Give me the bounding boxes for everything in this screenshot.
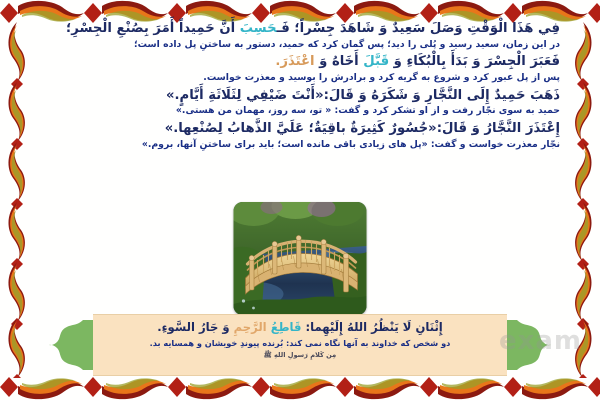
- persian-line-4: نجّار معذرت خواست و گفت: «پل های زیادی ب…: [40, 139, 560, 152]
- arabic-highlight-cyan: حَسِبَ: [240, 21, 277, 36]
- verse-group-4: إِعْتَذَرَ النَّجَّارُ وَ قَالَ:«جُسُورٌ…: [40, 120, 560, 151]
- hadith-band: إِثْنَانِ لَا يَنْظُرُ اللهُ إِلَيْهِما:…: [41, 314, 559, 376]
- hadith-persian: دو شخص که خداوند به آنها نگاه نمی کند: ب…: [93, 338, 507, 349]
- arabic-line-3: ذَهَبَ حَمِيدٌ إِلَى النَّجَّارِ وَ شَكَ…: [40, 87, 560, 106]
- bridge-photo-frame: [234, 202, 367, 315]
- arabic-seg: فَعَبَرَ الْجِسْرَ وَ بَدَأَ بِالْبُكَاء…: [389, 54, 560, 69]
- bridge-photo-image: [234, 202, 367, 315]
- arabic-highlight-orange: اعْتَذَرَ.: [275, 54, 314, 69]
- arabic-seg: فِي هَذَا الْوَقْتِ وَصَلَ سَعِيدٌ وَ شَ…: [277, 21, 560, 36]
- left-decorative-border: [4, 22, 30, 378]
- arabic-highlight-cyan: قَبَّلَ: [363, 54, 389, 69]
- hadith-seg: إِثْنَانِ لَا يَنْظُرُ اللهُ إِلَيْهِما:: [301, 320, 442, 334]
- hadith-arabic: إِثْنَانِ لَا يَنْظُرُ اللهُ إِلَيْهِما:…: [93, 320, 507, 335]
- hadith-seg: وَ جَارُ السَّوءِ.: [157, 320, 233, 334]
- persian-line-2: پس از پل عبور کرد و شروع به گریه کرد و ب…: [40, 72, 560, 85]
- persian-line-1: در این زمان، سعید رسید و پُلی را دید؛ پس…: [40, 39, 560, 52]
- ornament-right-icon: [499, 318, 553, 372]
- arabic-line-4: إِعْتَذَرَ النَّجَّارُ وَ قَالَ:«جُسُورٌ…: [40, 120, 560, 139]
- hadith-box: إِثْنَانِ لَا يَنْظُرُ اللهُ إِلَيْهِما:…: [93, 314, 507, 376]
- content-panel: فِي هَذَا الْوَقْتِ وَصَلَ سَعِيدٌ وَ شَ…: [34, 20, 566, 376]
- right-decorative-border: [570, 22, 596, 378]
- verse-group-3: ذَهَبَ حَمِيدٌ إِلَى النَّجَّارِ وَ شَكَ…: [40, 87, 560, 118]
- hadith-source: مِن كَلامِ رَسولِ اللهِ ﷺ: [93, 352, 507, 360]
- bottom-decorative-border: [0, 374, 600, 400]
- slide-page: فِي هَذَا الْوَقْتِ وَصَلَ سَعِيدٌ وَ شَ…: [0, 0, 600, 400]
- story-text-block: فِي هَذَا الْوَقْتِ وَصَلَ سَعِيدٌ وَ شَ…: [34, 20, 566, 153]
- persian-line-3: حمید به سوی نجّار رفت و از او تشکر کرد و…: [40, 105, 560, 118]
- arabic-seg: أَخَاهُ وَ: [315, 54, 364, 69]
- hadith-highlight-orange: الرَّحِمِ: [234, 320, 271, 334]
- verse-group-1: فِي هَذَا الْوَقْتِ وَصَلَ سَعِيدٌ وَ شَ…: [40, 20, 560, 51]
- arabic-line-2: فَعَبَرَ الْجِسْرَ وَ بَدَأَ بِالْبُكَاء…: [40, 53, 560, 72]
- arabic-seg: أَنَّ حَمِيداً أَمَرَ بِصُنْعِ الْجِسْرِ…: [66, 21, 240, 36]
- arabic-line-1: فِي هَذَا الْوَقْتِ وَصَلَ سَعِيدٌ وَ شَ…: [40, 20, 560, 39]
- hadith-highlight-cyan: قَاطِعُ: [271, 320, 302, 334]
- verse-group-2: فَعَبَرَ الْجِسْرَ وَ بَدَأَ بِالْبُكَاء…: [40, 53, 560, 84]
